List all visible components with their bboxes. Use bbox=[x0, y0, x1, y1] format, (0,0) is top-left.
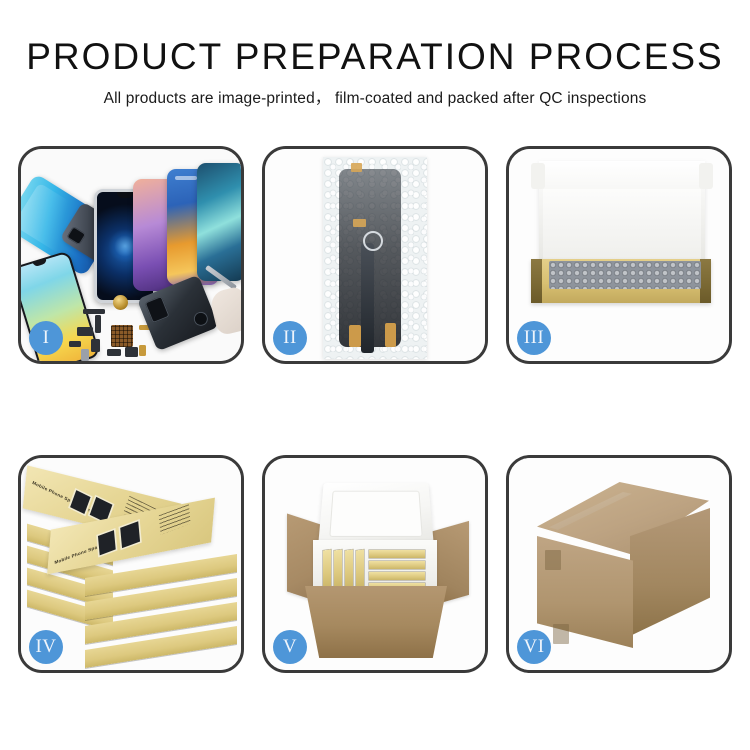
step-badge-3: III bbox=[517, 321, 551, 355]
foam-lid-open-icon bbox=[318, 483, 434, 547]
process-step-5[interactable]: V bbox=[262, 455, 488, 673]
gray-bubble-wrap-contents-icon bbox=[549, 261, 701, 289]
carton-tab-upper-icon bbox=[545, 550, 561, 570]
step-badge-1: I bbox=[29, 321, 63, 355]
carton-tab-lower-icon bbox=[553, 624, 569, 644]
chip-array-icon bbox=[111, 325, 133, 347]
page-title: PRODUCT PREPARATION PROCESS bbox=[0, 38, 750, 77]
part-gold-pad-icon bbox=[139, 345, 146, 356]
tape-top-icon bbox=[351, 163, 362, 172]
page-header: PRODUCT PREPARATION PROCESS All products… bbox=[0, 0, 750, 108]
part-strip-icon bbox=[83, 309, 105, 314]
speaker-module-icon bbox=[113, 295, 128, 310]
part-sim-tray-icon bbox=[107, 349, 121, 356]
step-badge-6: VI bbox=[517, 630, 551, 664]
process-step-1[interactable]: I bbox=[18, 146, 244, 364]
shipping-carton-open-icon bbox=[305, 586, 447, 658]
part-button-icon bbox=[81, 349, 89, 361]
inner-yellow-box-7 bbox=[369, 572, 425, 580]
inner-yellow-box-5 bbox=[369, 550, 425, 558]
step-badge-5: V bbox=[273, 630, 307, 664]
part-small-chip-icon bbox=[91, 339, 100, 352]
inner-yellow-box-2 bbox=[334, 549, 342, 588]
box-spec-lines-2 bbox=[159, 504, 191, 534]
process-step-4[interactable]: Mobile Phone Spare Parts Mobile Phone Sp… bbox=[18, 455, 244, 673]
inner-yellow-box-3 bbox=[345, 549, 353, 588]
connector-right-icon bbox=[385, 323, 396, 347]
box-window-2a bbox=[98, 530, 116, 555]
foam-inner-panel-icon bbox=[543, 189, 701, 261]
part-antenna-icon bbox=[95, 315, 101, 333]
process-step-2[interactable]: II bbox=[262, 146, 488, 364]
connector-left-icon bbox=[349, 325, 361, 347]
page-subtitle: All products are image-printed， film-coa… bbox=[0, 86, 750, 108]
part-bracket-icon bbox=[77, 327, 93, 336]
inner-yellow-box-4 bbox=[356, 549, 364, 588]
process-step-3[interactable]: III bbox=[506, 146, 732, 364]
box-window-2b bbox=[120, 521, 140, 548]
part-vibrator-icon bbox=[69, 341, 81, 347]
inner-yellow-box-6 bbox=[369, 561, 425, 569]
process-step-grid: I II III bbox=[18, 146, 732, 673]
camera-ring-icon bbox=[363, 231, 383, 251]
inner-yellow-box-1 bbox=[323, 549, 331, 588]
process-step-6[interactable]: VI bbox=[506, 455, 732, 673]
tape-mid-icon bbox=[353, 219, 366, 227]
part-camera-icon bbox=[125, 347, 138, 357]
flex-cable-icon bbox=[361, 243, 374, 353]
step-badge-2: II bbox=[273, 321, 307, 355]
bubble-wrap-bag-icon bbox=[323, 157, 427, 359]
step-badge-4: IV bbox=[29, 630, 63, 664]
